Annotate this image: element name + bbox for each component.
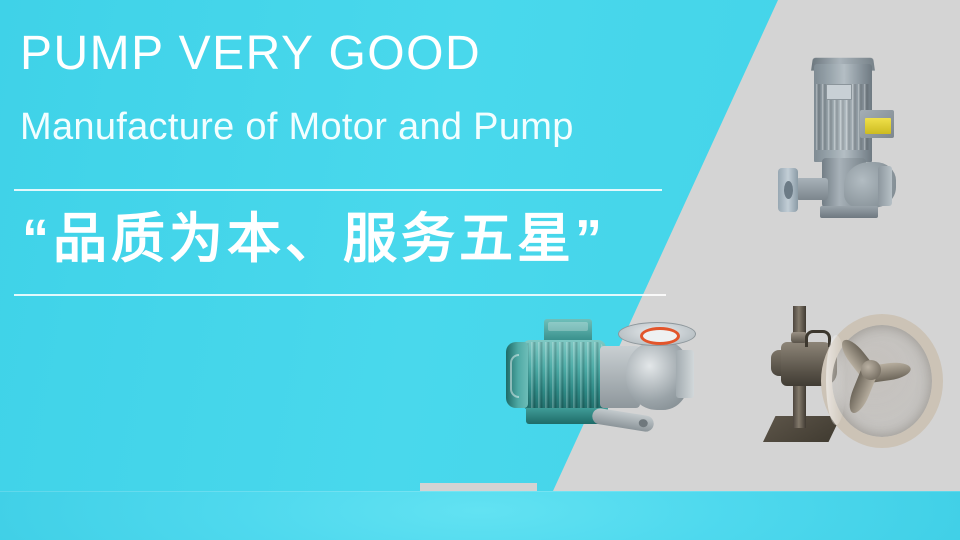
flange-gasket-ring <box>640 327 680 345</box>
product-image-submersible-mixer <box>755 300 930 460</box>
gray-accent-tab <box>420 483 537 491</box>
fan-cover-endcap <box>506 342 528 408</box>
discharge-flange <box>676 350 694 398</box>
divider-bottom <box>14 294 666 296</box>
product-image-vertical-inline-pump <box>770 48 920 233</box>
discharge-flange <box>878 166 892 206</box>
suction-neck <box>796 178 828 200</box>
motor-cooling-fins <box>524 342 604 408</box>
junction-box-yellow-cover <box>865 118 891 134</box>
lifting-handle <box>805 330 831 347</box>
promo-banner: PUMP VERY GOOD Manufacture of Motor and … <box>0 0 960 540</box>
slogan-text: “品质为本、服务五星” <box>22 203 606 276</box>
divider-top <box>14 189 662 191</box>
suction-flange <box>778 168 798 212</box>
nameplate <box>826 84 852 100</box>
page-title: PUMP VERY GOOD <box>20 30 481 78</box>
subtitle: Manufacture of Motor and Pump <box>20 108 574 146</box>
bottom-bar <box>0 491 960 540</box>
support-foot-bracket <box>591 407 655 433</box>
product-image-horizontal-centrifugal-pump <box>500 312 715 462</box>
pump-base-foot <box>820 206 878 218</box>
propeller-hub <box>861 360 881 380</box>
